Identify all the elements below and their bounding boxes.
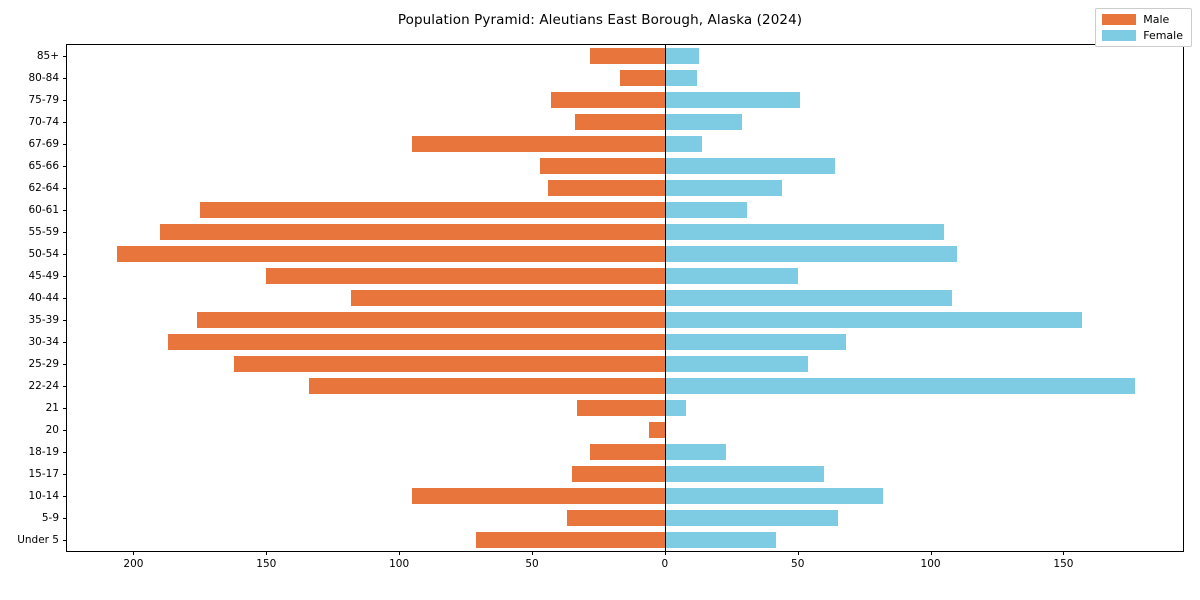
y-axis-label-5-9: 5-9 xyxy=(42,512,59,524)
y-axis-label-22-24: 22-24 xyxy=(28,380,59,392)
y-axis-tick xyxy=(63,188,67,189)
y-axis-tick xyxy=(63,320,67,321)
bar-female-30-34[interactable] xyxy=(665,334,846,350)
bar-female-62-64[interactable] xyxy=(665,180,782,196)
pyramid-row xyxy=(67,265,1183,287)
y-axis-label-80-84: 80-84 xyxy=(28,72,59,84)
y-axis-tick xyxy=(63,518,67,519)
pyramid-row xyxy=(67,441,1183,463)
bar-male-21[interactable] xyxy=(577,400,665,416)
x-axis-tick xyxy=(1063,551,1064,555)
bar-female-18-19[interactable] xyxy=(665,444,726,460)
legend-swatch-female xyxy=(1102,30,1136,41)
y-axis-label-70-74: 70-74 xyxy=(28,116,59,128)
y-axis-label-65-66: 65-66 xyxy=(28,160,59,172)
bar-male-5-9[interactable] xyxy=(567,510,665,526)
bar-female-70-74[interactable] xyxy=(665,114,742,130)
pyramid-row xyxy=(67,309,1183,331)
bar-male-80-84[interactable] xyxy=(620,70,665,86)
pyramid-row xyxy=(67,397,1183,419)
legend-label-female: Female xyxy=(1143,30,1183,41)
bar-female-25-29[interactable] xyxy=(665,356,808,372)
pyramid-row xyxy=(67,375,1183,397)
pyramid-row xyxy=(67,507,1183,529)
y-axis-tick xyxy=(63,122,67,123)
y-axis-label-15-17: 15-17 xyxy=(28,468,59,480)
legend-entry-female[interactable]: Female xyxy=(1102,30,1183,41)
y-axis-label-67-69: 67-69 xyxy=(28,138,59,150)
bar-female-80-84[interactable] xyxy=(665,70,697,86)
x-axis-tick xyxy=(266,551,267,555)
y-axis-tick xyxy=(63,408,67,409)
bar-female-35-39[interactable] xyxy=(665,312,1082,328)
y-axis-label-55-59: 55-59 xyxy=(28,226,59,238)
bar-female-under-5[interactable] xyxy=(665,532,777,548)
pyramid-row xyxy=(67,353,1183,375)
x-axis-tick xyxy=(931,551,932,555)
y-axis-tick xyxy=(63,540,67,541)
bar-male-10-14[interactable] xyxy=(412,488,664,504)
bar-male-70-74[interactable] xyxy=(575,114,665,130)
bar-female-10-14[interactable] xyxy=(665,488,883,504)
pyramid-row xyxy=(67,331,1183,353)
pyramid-row xyxy=(67,419,1183,441)
y-axis-tick xyxy=(63,232,67,233)
bar-female-50-54[interactable] xyxy=(665,246,957,262)
bar-female-22-24[interactable] xyxy=(665,378,1135,394)
y-axis-tick xyxy=(63,386,67,387)
y-axis-label-35-39: 35-39 xyxy=(28,314,59,326)
bar-male-62-64[interactable] xyxy=(548,180,665,196)
chart-title: Population Pyramid: Aleutians East Borou… xyxy=(0,12,1200,28)
x-axis-tick xyxy=(532,551,533,555)
y-axis-tick xyxy=(63,210,67,211)
x-axis-label: 150 xyxy=(1053,558,1073,570)
x-axis-label: 50 xyxy=(525,558,538,570)
bar-male-50-54[interactable] xyxy=(117,246,664,262)
legend-entry-male[interactable]: Male xyxy=(1102,14,1183,25)
x-axis-label: 100 xyxy=(921,558,941,570)
bar-female-75-79[interactable] xyxy=(665,92,801,108)
y-axis-tick xyxy=(63,100,67,101)
bar-female-60-61[interactable] xyxy=(665,202,747,218)
y-axis-tick xyxy=(63,254,67,255)
pyramid-row xyxy=(67,485,1183,507)
y-axis-tick xyxy=(63,166,67,167)
y-axis-label-18-19: 18-19 xyxy=(28,446,59,458)
bar-female-5-9[interactable] xyxy=(665,510,838,526)
chart-legend: MaleFemale xyxy=(1095,8,1192,47)
y-axis-label-under-5: Under 5 xyxy=(17,534,59,546)
bar-male-30-34[interactable] xyxy=(168,334,665,350)
bar-male-25-29[interactable] xyxy=(234,356,664,372)
y-axis-label-62-64: 62-64 xyxy=(28,182,59,194)
pyramid-row xyxy=(67,199,1183,221)
pyramid-row xyxy=(67,89,1183,111)
y-axis-tick xyxy=(63,452,67,453)
y-axis-tick xyxy=(63,78,67,79)
bar-female-65-66[interactable] xyxy=(665,158,835,174)
x-axis-tick xyxy=(798,551,799,555)
bar-male-18-19[interactable] xyxy=(590,444,664,460)
y-axis-label-21: 21 xyxy=(46,402,59,414)
y-axis-label-50-54: 50-54 xyxy=(28,248,59,260)
bar-male-60-61[interactable] xyxy=(200,202,665,218)
y-axis-tick xyxy=(63,298,67,299)
pyramid-row xyxy=(67,45,1183,67)
bar-female-15-17[interactable] xyxy=(665,466,824,482)
y-axis-tick xyxy=(63,342,67,343)
bar-male-55-59[interactable] xyxy=(160,224,665,240)
y-axis-label-20: 20 xyxy=(46,424,59,436)
bar-male-22-24[interactable] xyxy=(309,378,665,394)
pyramid-row xyxy=(67,133,1183,155)
bar-male-under-5[interactable] xyxy=(476,532,665,548)
pyramid-row xyxy=(67,67,1183,89)
bar-male-35-39[interactable] xyxy=(197,312,665,328)
bar-male-65-66[interactable] xyxy=(540,158,665,174)
x-axis-tick xyxy=(399,551,400,555)
y-axis-label-45-49: 45-49 xyxy=(28,270,59,282)
bar-female-55-59[interactable] xyxy=(665,224,944,240)
y-axis-tick xyxy=(63,364,67,365)
bar-female-21[interactable] xyxy=(665,400,686,416)
bar-male-75-79[interactable] xyxy=(551,92,665,108)
y-axis-tick xyxy=(63,430,67,431)
legend-swatch-male xyxy=(1102,14,1136,25)
pyramid-row xyxy=(67,111,1183,133)
bar-male-85+[interactable] xyxy=(590,48,664,64)
x-axis-tick xyxy=(665,551,666,555)
x-axis-label: 0 xyxy=(662,558,669,570)
x-axis-label: 100 xyxy=(389,558,409,570)
y-axis-label-40-44: 40-44 xyxy=(28,292,59,304)
plot-area: Under 55-910-1415-1718-19202122-2425-293… xyxy=(66,44,1184,552)
y-axis-label-60-61: 60-61 xyxy=(28,204,59,216)
x-axis-label: 150 xyxy=(256,558,276,570)
population-pyramid-figure: Population Pyramid: Aleutians East Borou… xyxy=(0,0,1200,600)
x-axis-label: 50 xyxy=(791,558,804,570)
pyramid-row xyxy=(67,155,1183,177)
bar-female-85+[interactable] xyxy=(665,48,700,64)
y-axis-tick xyxy=(63,496,67,497)
y-axis-tick xyxy=(63,144,67,145)
y-axis-label-25-29: 25-29 xyxy=(28,358,59,370)
bars-layer xyxy=(67,45,1183,551)
bar-female-45-49[interactable] xyxy=(665,268,798,284)
x-axis-label: 200 xyxy=(123,558,143,570)
y-axis-label-10-14: 10-14 xyxy=(28,490,59,502)
y-axis-label-30-34: 30-34 xyxy=(28,336,59,348)
zero-axis-line xyxy=(665,45,666,551)
bar-male-67-69[interactable] xyxy=(412,136,664,152)
pyramid-row xyxy=(67,177,1183,199)
y-axis-tick xyxy=(63,56,67,57)
legend-label-male: Male xyxy=(1143,14,1169,25)
pyramid-row xyxy=(67,529,1183,551)
y-axis-tick xyxy=(63,276,67,277)
pyramid-row xyxy=(67,287,1183,309)
bar-male-15-17[interactable] xyxy=(572,466,665,482)
pyramid-row xyxy=(67,463,1183,485)
bar-female-40-44[interactable] xyxy=(665,290,952,306)
pyramid-row xyxy=(67,221,1183,243)
bar-male-20[interactable] xyxy=(649,422,665,438)
x-axis-tick xyxy=(133,551,134,555)
pyramid-row xyxy=(67,243,1183,265)
bar-male-40-44[interactable] xyxy=(351,290,665,306)
y-axis-label-75-79: 75-79 xyxy=(28,94,59,106)
bar-female-67-69[interactable] xyxy=(665,136,702,152)
y-axis-tick xyxy=(63,474,67,475)
y-axis-label-85+: 85+ xyxy=(37,50,59,62)
bar-male-45-49[interactable] xyxy=(266,268,665,284)
